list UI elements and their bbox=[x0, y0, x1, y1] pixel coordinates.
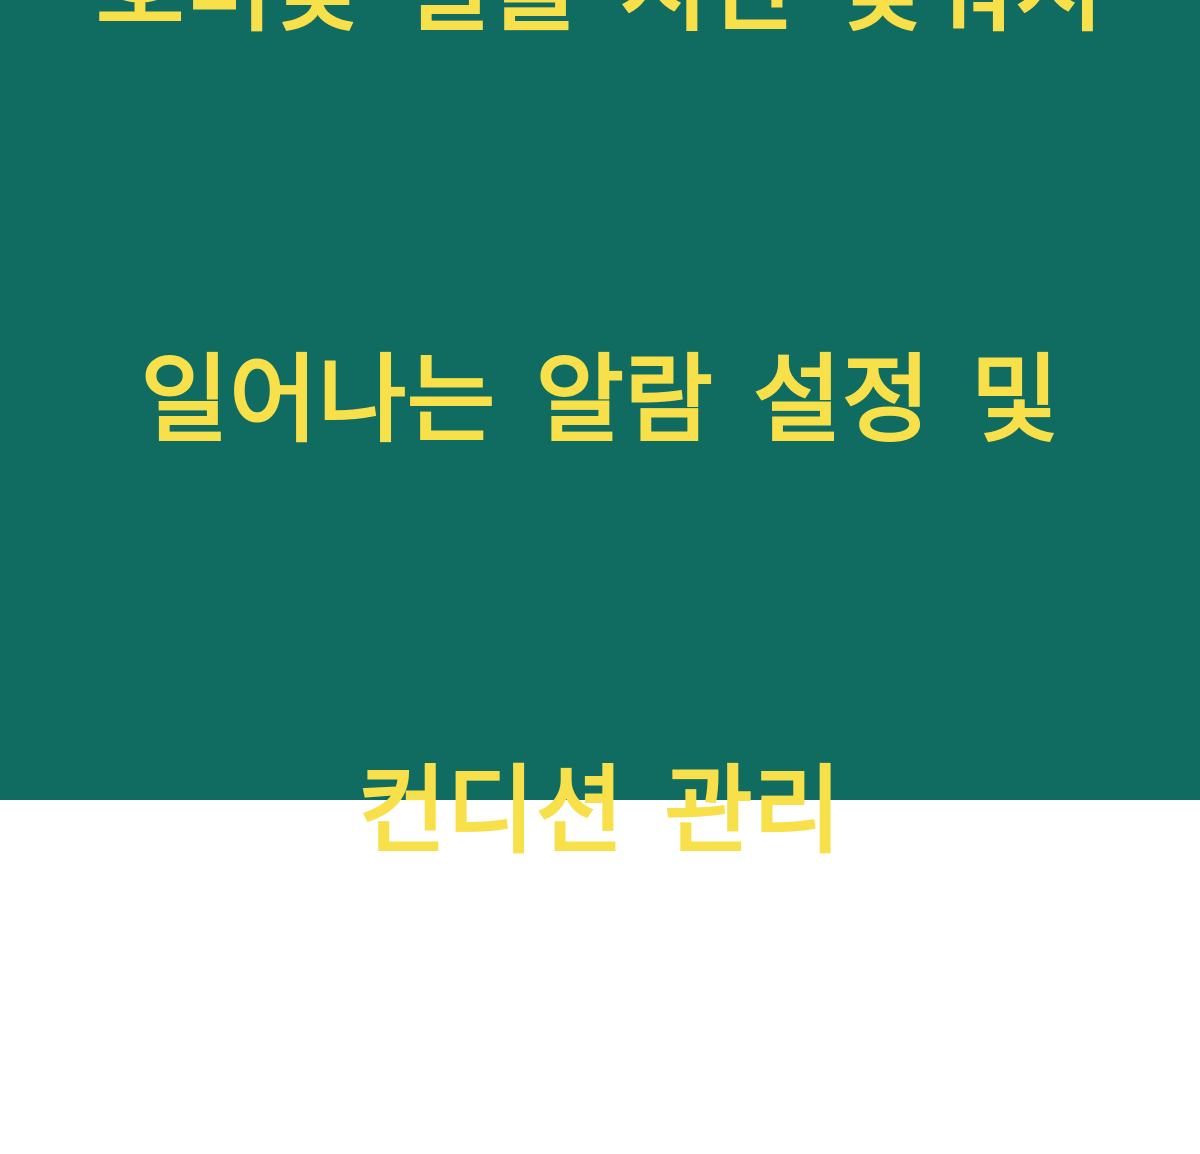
headline-line-3: 컨디션 관리 bbox=[40, 743, 1160, 880]
headline-line-1: 호미곶 일출 시간 맞춰서 bbox=[40, 0, 1160, 58]
headline-line-2: 일어나는 알람 설정 및 bbox=[40, 332, 1160, 469]
text-card: 호미곶 일출 시간 맞춰서 일어나는 알람 설정 및 컨디션 관리 bbox=[0, 0, 1200, 800]
headline-text-block: 호미곶 일출 시간 맞춰서 일어나는 알람 설정 및 컨디션 관리 bbox=[0, 0, 1200, 1154]
